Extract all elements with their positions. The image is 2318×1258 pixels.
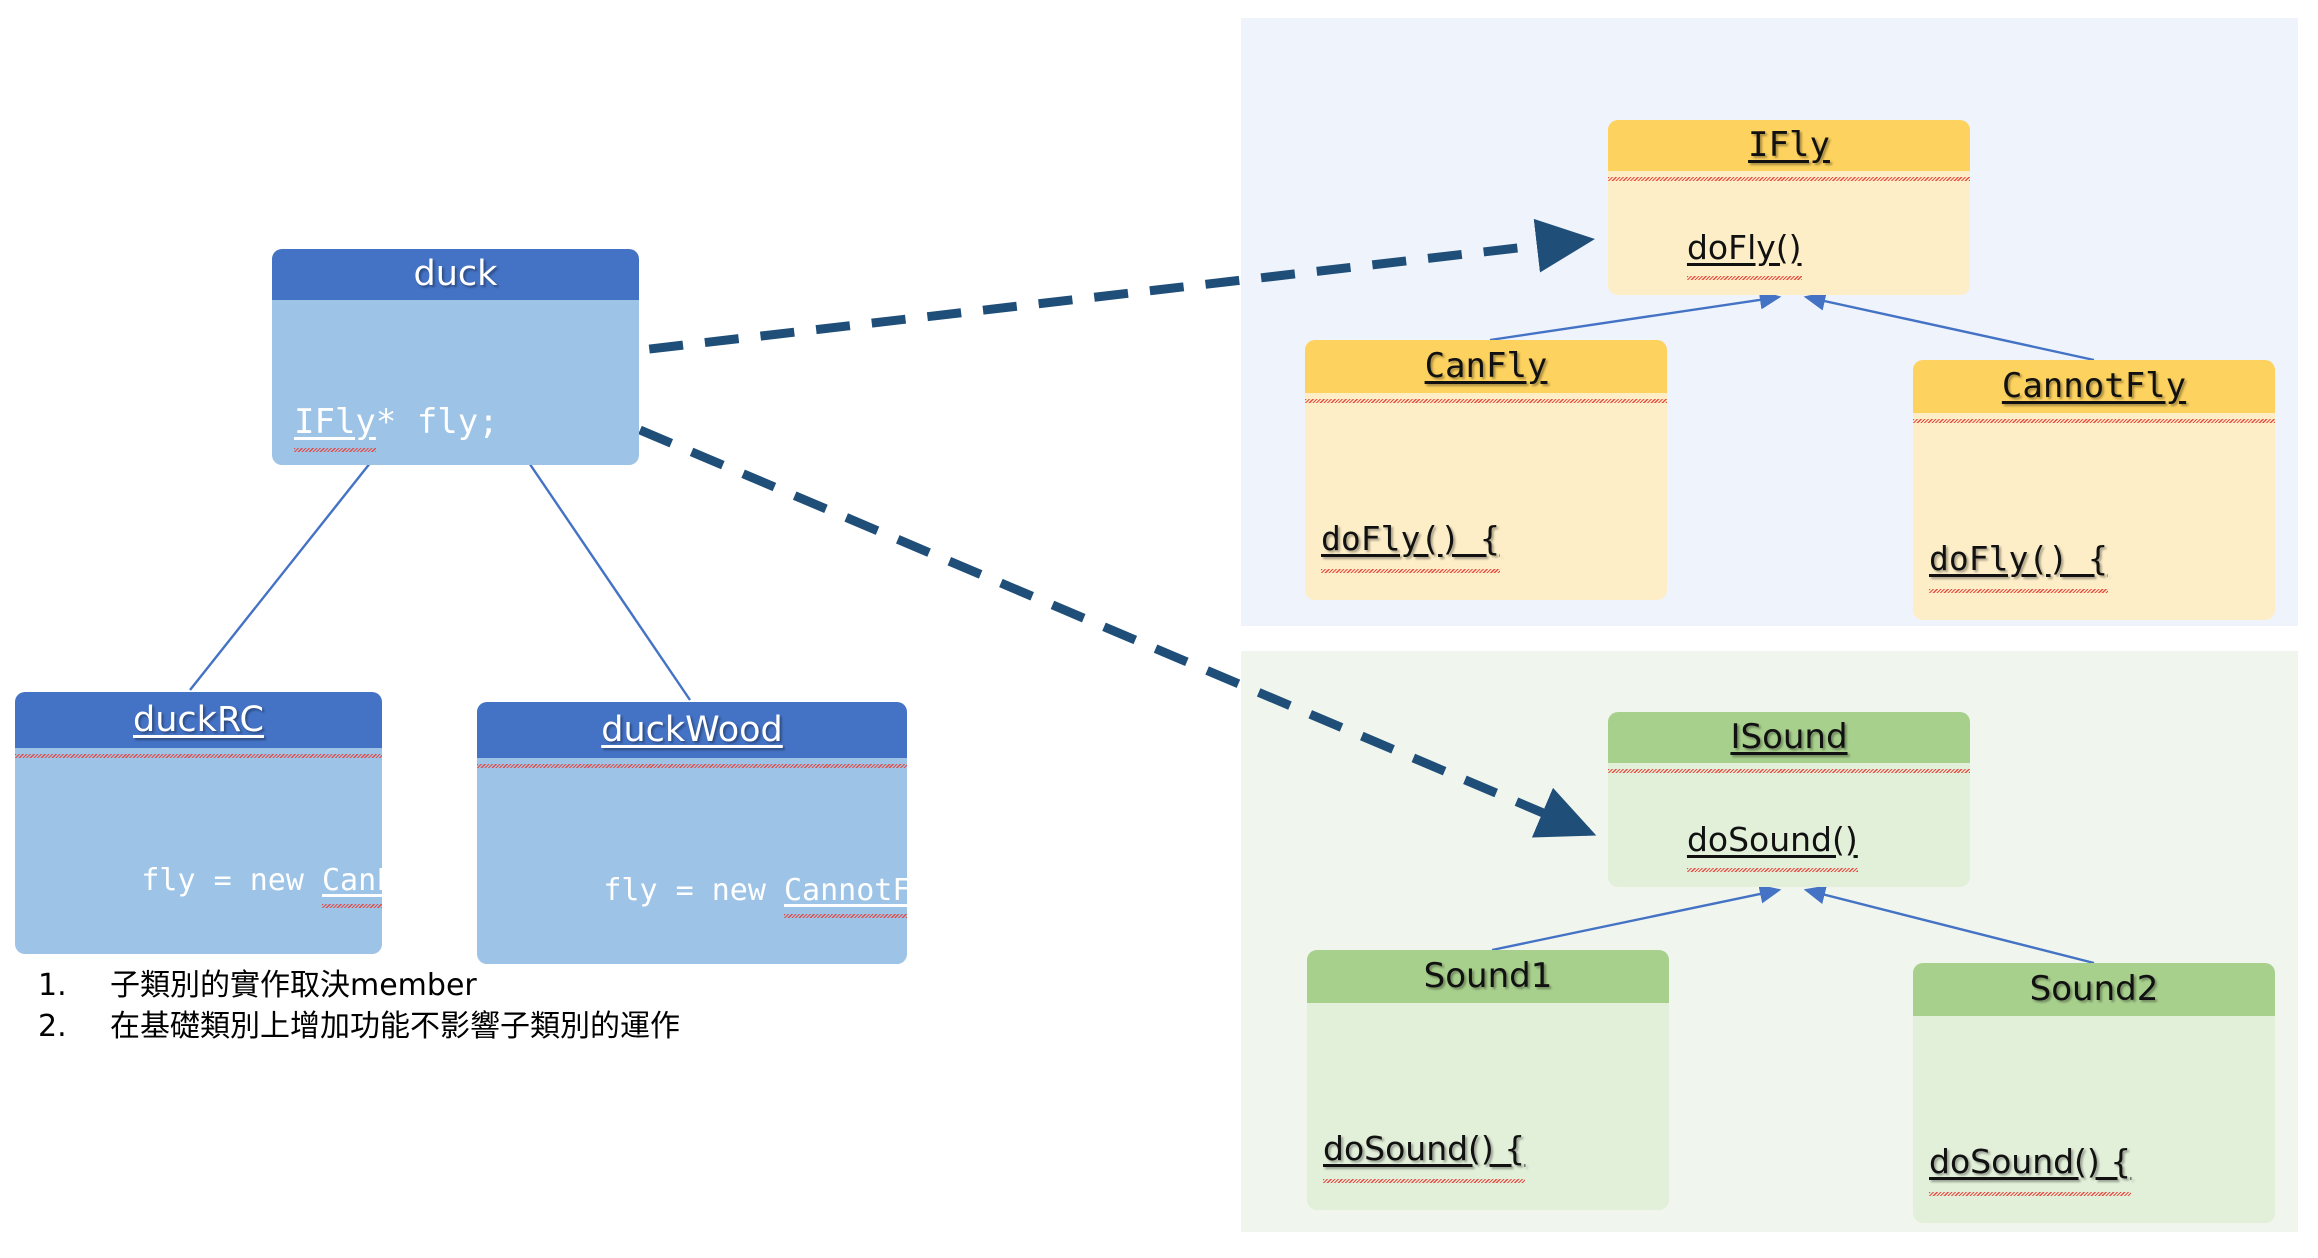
sound2-signature: doSound() { <box>1929 1138 2131 1186</box>
cannotfly-signature: doFly() { <box>1929 535 2108 583</box>
sound1-signature: doSound() { <box>1323 1125 1525 1173</box>
duckrc-assign-prefix: fly = new <box>141 863 322 898</box>
member-fly: IFly* fly; <box>294 401 639 445</box>
class-body-isound: doSound() … <box>1608 763 1970 887</box>
cannotfly-line1: doFly() { <box>1929 535 2275 583</box>
duckwood-assign-call: CannotFly() <box>784 873 907 908</box>
link-sound1-to-isound <box>1492 890 1779 950</box>
class-title-sound1: Sound1 <box>1307 950 1669 1003</box>
link-cannotfly-to-ifly <box>1806 297 2094 360</box>
class-title-canfly: CanFly <box>1305 340 1667 393</box>
canfly-signature: doFly() { <box>1321 515 1500 563</box>
class-box-cannotfly[interactable]: CannotFly doFly() { “Cannot fly” } <box>1913 360 2275 620</box>
class-body-canfly: doFly() { “Can fly” } <box>1305 393 1667 600</box>
class-title-sound2: Sound2 <box>1913 963 2275 1016</box>
ifly-method: doFly() <box>1687 226 1802 271</box>
class-box-duckwood[interactable]: duckWood fly = new CannotFly() <box>477 702 907 964</box>
note-number: 2. <box>38 1007 110 1048</box>
note-item: 2. 在基礎類別上增加功能不影響子類別的運作 <box>38 1007 680 1048</box>
duckrc-assign-call: CanFly() <box>322 863 382 898</box>
member-fly-type: IFly <box>294 402 376 442</box>
class-box-sound1[interactable]: Sound1 doSound() { “Sound1” } <box>1307 950 1669 1210</box>
diagram-canvas: duck IFly* fly; Isound* sound; … duckRC … <box>0 0 2318 1258</box>
class-title-ifly: IFly <box>1608 120 1970 171</box>
class-box-duck[interactable]: duck IFly* fly; Isound* sound; … <box>272 249 639 465</box>
notes-list: 1. 子類別的實作取決member 2. 在基礎類別上增加功能不影響子類別的運作 <box>38 966 680 1047</box>
class-box-ifly[interactable]: IFly doFly() … <box>1608 120 1970 295</box>
class-box-duckrc[interactable]: duckRC fly = new CanFly() <box>15 692 382 954</box>
class-box-canfly[interactable]: CanFly doFly() { “Can fly” } <box>1305 340 1667 600</box>
class-body-cannotfly: doFly() { “Cannot fly” } <box>1913 413 2275 620</box>
sound2-line1: doSound() { <box>1929 1138 2275 1186</box>
class-title-cannotfly: CannotFly <box>1913 360 2275 413</box>
class-body-sound1: doSound() { “Sound1” } <box>1307 1003 1669 1210</box>
sound1-line1: doSound() { <box>1323 1125 1669 1173</box>
class-title-duck: duck <box>272 249 639 300</box>
class-title-duckrc: duckRC <box>15 692 382 748</box>
class-box-isound[interactable]: ISound doSound() … <box>1608 712 1970 887</box>
duckwood-assign-prefix: fly = new <box>603 873 784 908</box>
class-body-sound2: doSound() { “Sound2” } <box>1913 1016 2275 1223</box>
class-title-duckwood: duckWood <box>477 702 907 758</box>
link-canfly-to-ifly <box>1490 297 1779 340</box>
class-members-duck: IFly* fly; Isound* sound; … <box>272 300 639 465</box>
isound-method: doSound() <box>1687 818 1858 863</box>
note-item: 1. 子類別的實作取決member <box>38 966 680 1007</box>
class-box-sound2[interactable]: Sound2 doSound() { “Sound2” } <box>1913 963 2275 1223</box>
link-sound2-to-isound <box>1806 890 2094 963</box>
class-body-duckwood: fly = new CannotFly() <box>477 758 907 964</box>
canfly-line1: doFly() { <box>1321 515 1667 563</box>
note-text: 在基礎類別上增加功能不影響子類別的運作 <box>110 1007 680 1048</box>
note-text: 子類別的實作取決member <box>110 966 477 1007</box>
member-fly-rest: * fly; <box>376 402 499 442</box>
class-body-duckrc: fly = new CanFly() <box>15 748 382 954</box>
class-title-isound: ISound <box>1608 712 1970 763</box>
class-body-ifly: doFly() … <box>1608 171 1970 295</box>
note-number: 1. <box>38 966 110 1007</box>
